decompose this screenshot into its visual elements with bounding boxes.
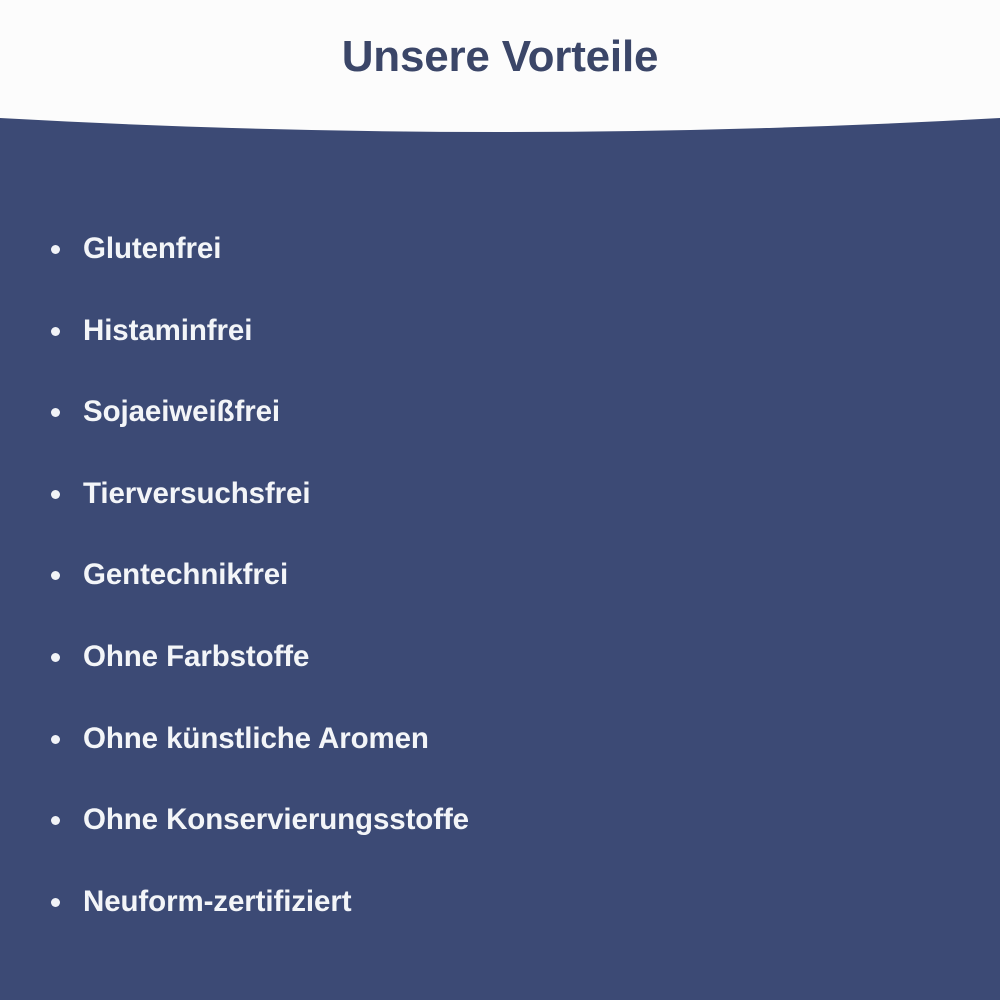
list-item: Ohne Konservierungsstoffe <box>0 803 1000 885</box>
benefit-label: Histaminfrei <box>83 314 252 348</box>
bullet-icon <box>51 816 60 825</box>
benefit-label: Sojaeiweißfrei <box>83 395 280 429</box>
bullet-icon <box>51 571 60 580</box>
list-item: Tierversuchsfrei <box>0 477 1000 559</box>
bullet-icon <box>51 408 60 417</box>
benefit-label: Ohne künstliche Aromen <box>83 722 429 756</box>
bullet-icon <box>51 653 60 662</box>
bullet-icon <box>51 898 60 907</box>
list-item: Histaminfrei <box>0 314 1000 396</box>
list-item: Sojaeiweißfrei <box>0 395 1000 477</box>
list-item: Ohne künstliche Aromen <box>0 722 1000 804</box>
list-item: Neuform-zertifiziert <box>0 885 1000 967</box>
benefit-label: Ohne Farbstoffe <box>83 640 309 674</box>
benefits-list: Glutenfrei Histaminfrei Sojaeiweißfrei T… <box>0 232 1000 966</box>
benefit-label: Neuform-zertifiziert <box>83 885 351 919</box>
bullet-icon <box>51 490 60 499</box>
list-item: Ohne Farbstoffe <box>0 640 1000 722</box>
bullet-icon <box>51 245 60 254</box>
list-item: Glutenfrei <box>0 232 1000 314</box>
benefits-panel: Unsere Vorteile Glutenfrei Histaminfrei … <box>0 0 1000 1000</box>
benefit-label: Gentechnikfrei <box>83 558 288 592</box>
bullet-icon <box>51 327 60 336</box>
header-band: Unsere Vorteile <box>0 0 1000 140</box>
benefit-label: Tierversuchsfrei <box>83 477 310 511</box>
bullet-icon <box>51 735 60 744</box>
benefit-label: Glutenfrei <box>83 232 221 266</box>
benefit-label: Ohne Konservierungsstoffe <box>83 803 469 837</box>
page-title: Unsere Vorteile <box>0 0 1000 118</box>
list-item: Gentechnikfrei <box>0 558 1000 640</box>
